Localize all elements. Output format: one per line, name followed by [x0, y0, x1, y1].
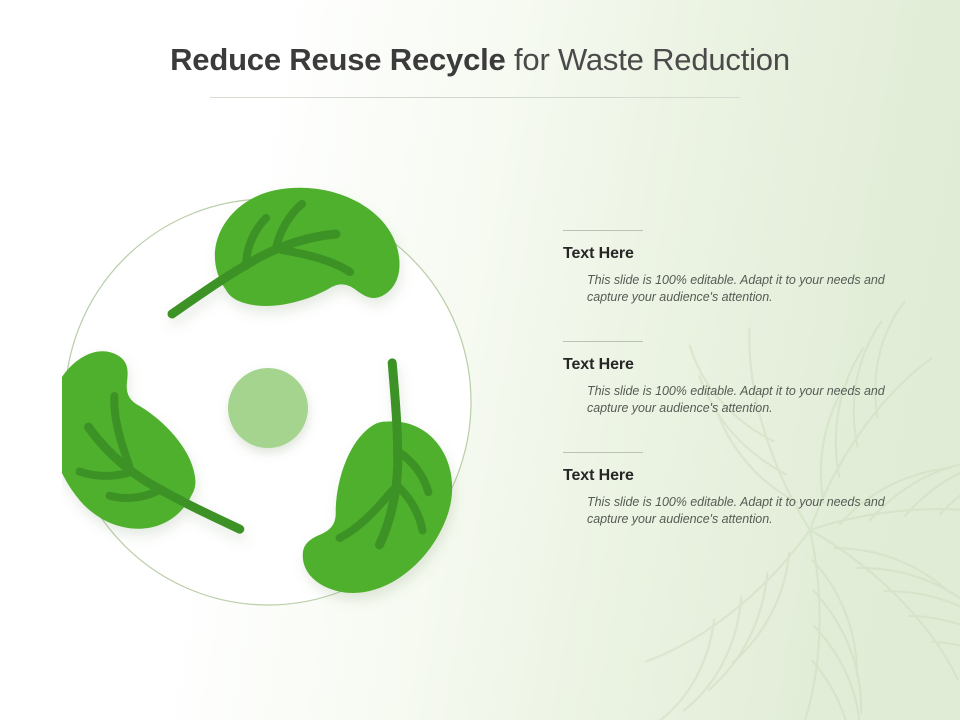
block-divider: [563, 230, 643, 231]
text-column: Text Here This slide is 100% editable. A…: [563, 230, 933, 563]
block-heading: Text Here: [563, 356, 933, 374]
text-block: Text Here This slide is 100% editable. A…: [563, 230, 933, 306]
block-body: This slide is 100% editable. Adapt it to…: [587, 383, 917, 417]
center-circle: [228, 368, 308, 448]
page-title-light: for Waste Reduction: [506, 42, 790, 77]
title-divider: [210, 97, 740, 98]
block-heading: Text Here: [563, 245, 933, 263]
title-block: Reduce Reuse Recycle for Waste Reduction: [0, 40, 960, 80]
slide-canvas: Reduce Reuse Recycle for Waste Reduction: [0, 0, 960, 720]
block-body: This slide is 100% editable. Adapt it to…: [587, 494, 917, 528]
text-block: Text Here This slide is 100% editable. A…: [563, 452, 933, 528]
recycle-leaves-illustration: [62, 178, 474, 626]
page-title: Reduce Reuse Recycle for Waste Reduction: [0, 40, 960, 80]
block-body: This slide is 100% editable. Adapt it to…: [587, 272, 917, 306]
block-heading: Text Here: [563, 467, 933, 485]
page-title-strong: Reduce Reuse Recycle: [170, 42, 505, 77]
block-divider: [563, 452, 643, 453]
text-block: Text Here This slide is 100% editable. A…: [563, 341, 933, 417]
block-divider: [563, 341, 643, 342]
